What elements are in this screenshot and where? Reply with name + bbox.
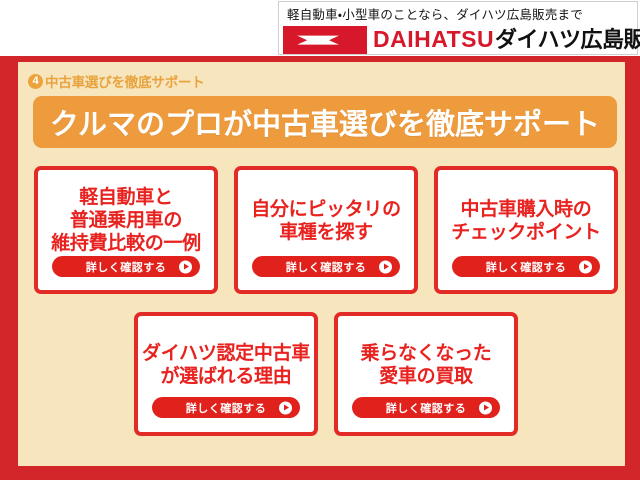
card-cta-label: 詳しく確認する [186,400,267,416]
content-area: 4 中古車選びを徹底サポート クルマのプロが中古車選びを徹底サポート 軽自動車と… [18,62,625,466]
card-title: 乗らなくなった 愛車の買取 [338,342,514,388]
card-cta-label: 詳しく確認する [286,259,367,275]
play-arrow-icon [379,260,392,273]
daihatsu-wordmark: DAIHATSU [373,25,494,53]
card-cta-button[interactable]: 詳しく確認する [352,397,500,418]
card-cta-label: 詳しく確認する [486,259,567,275]
card-cta-button[interactable]: 詳しく確認する [52,256,200,277]
card-title-line: 愛車の買取 [338,365,514,388]
card-cta-label: 詳しく確認する [86,259,167,275]
card-title-line: 中古車購入時の [438,198,614,221]
card-find-model[interactable]: 自分にピッタリの 車種を探す 詳しく確認する [234,166,418,294]
section-number-icon: 4 [28,74,43,89]
card-maintenance-cost[interactable]: 軽自動車と 普通乗用車の 維持費比較の一例 詳しく確認する [34,166,218,294]
dealer-logo-lockup[interactable]: DAIHATSU ダイハツ広島販売 [283,26,635,54]
card-title: 軽自動車と 普通乗用車の 維持費比較の一例 [38,186,214,255]
card-title: ダイハツ認定中古車 が選ばれる理由 [138,342,314,388]
site-header: 軽自動車・小型車のことなら、ダイハツ広島販売まで DAIHATSU ダイハツ広島… [0,0,640,56]
play-arrow-icon [479,401,492,414]
card-title-line: 普通乗用車の [38,209,214,232]
card-title: 自分にピッタリの 車種を探す [238,198,414,244]
play-arrow-icon [579,260,592,273]
card-title-line: チェックポイント [438,221,614,244]
play-arrow-icon [279,401,292,414]
card-title-line: 乗らなくなった [338,342,514,365]
card-title: 中古車購入時の チェックポイント [438,198,614,244]
section-badge-label: 中古車選びを徹底サポート [45,71,205,91]
card-title-line: 車種を探す [238,221,414,244]
card-cta-label: 詳しく確認する [386,400,467,416]
card-title-line: 軽自動車と [38,186,214,209]
card-trade-in[interactable]: 乗らなくなった 愛車の買取 詳しく確認する [334,312,518,436]
banner-title: クルマのプロが中古車選びを徹底サポート [50,101,600,143]
page-root: 軽自動車・小型車のことなら、ダイハツ広島販売まで DAIHATSU ダイハツ広島… [0,0,640,480]
card-title-line: ダイハツ認定中古車 [138,342,314,365]
section-badge: 4 中古車選びを徹底サポート [28,70,205,92]
dealer-logo-panel: 軽自動車・小型車のことなら、ダイハツ広島販売まで DAIHATSU ダイハツ広島… [278,1,638,55]
daihatsu-d-mark-icon [283,26,367,54]
card-cta-button[interactable]: 詳しく確認する [152,397,300,418]
card-title-line: が選ばれる理由 [138,365,314,388]
card-title-line: 自分にピッタリの [238,198,414,221]
card-checkpoints[interactable]: 中古車購入時の チェックポイント 詳しく確認する [434,166,618,294]
header-tagline: 軽自動車・小型車のことなら、ダイハツ広島販売まで [287,5,631,25]
card-certified-used[interactable]: ダイハツ認定中古車 が選ばれる理由 詳しく確認する [134,312,318,436]
play-arrow-icon [179,260,192,273]
card-title-line: 維持費比較の一例 [38,232,214,255]
card-cta-button[interactable]: 詳しく確認する [252,256,400,277]
card-cta-button[interactable]: 詳しく確認する [452,256,600,277]
section-banner: クルマのプロが中古車選びを徹底サポート [33,96,617,148]
red-frame: 4 中古車選びを徹底サポート クルマのプロが中古車選びを徹底サポート 軽自動車と… [0,56,640,480]
dealer-name-jp: ダイハツ広島販売 [495,26,640,54]
